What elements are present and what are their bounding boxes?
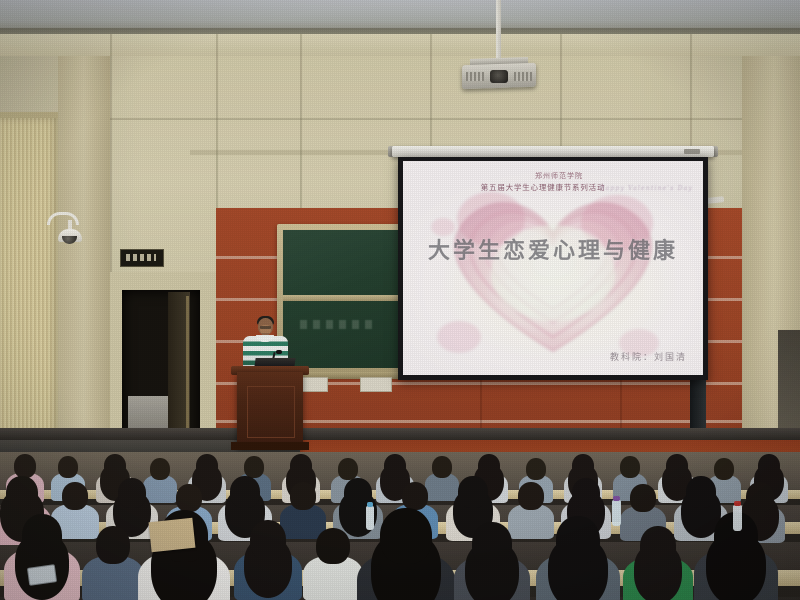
audience-member-head <box>58 456 78 478</box>
audience-member-head <box>620 456 640 478</box>
wall-sign <box>120 249 164 267</box>
projector-lens-icon <box>490 70 508 83</box>
audience <box>0 452 800 600</box>
audience-member-head <box>104 454 126 478</box>
audience-member-head <box>556 516 600 564</box>
slide-watermark: Happy Valentine's Day <box>599 185 693 192</box>
acoustic-slat-panel <box>0 118 58 468</box>
smartphone[interactable] <box>27 564 57 586</box>
audience-member-head <box>458 476 488 508</box>
audience-member-head <box>472 522 512 566</box>
audience-member-head <box>118 478 146 508</box>
chalk-writing <box>300 320 375 329</box>
podium-front-panel <box>247 386 295 438</box>
lecture-hall-photo: 郑州师范学院 第五届大学生心理健康节系列活动 Happy Valentine's… <box>0 0 800 600</box>
audience-member-head <box>338 458 358 480</box>
podium-base <box>231 442 309 450</box>
slide-org-line: 郑州师范学院 <box>459 171 659 181</box>
audience-member-head <box>62 482 88 510</box>
water-bottle <box>366 506 374 530</box>
audience-member-head <box>150 458 170 480</box>
projector-vent <box>466 72 484 81</box>
audience-member-head <box>526 458 546 480</box>
stage-front-edge <box>0 428 800 440</box>
audience-member-head <box>746 482 774 512</box>
wall-seam <box>110 118 800 120</box>
audience-member-head <box>478 454 500 478</box>
projected-slide: 郑州师范学院 第五届大学生心理健康节系列活动 Happy Valentine's… <box>403 161 703 375</box>
audience-member-head <box>22 514 62 558</box>
wall-notice-card <box>360 377 392 392</box>
chalkboard-divider <box>283 295 409 301</box>
audience-member-head <box>640 526 676 566</box>
wall-seam <box>430 34 432 149</box>
projector-mount-pole <box>496 0 501 62</box>
screen-housing-label <box>684 149 700 154</box>
slide-presenter: 教科院：刘国清 <box>610 350 687 363</box>
water-bottle <box>612 500 621 526</box>
door-handle-strip[interactable] <box>186 296 189 446</box>
audience-member-head <box>196 454 218 478</box>
audience-member-head <box>6 476 38 510</box>
heart-swirl-svg <box>403 161 703 375</box>
audience-member-head <box>230 476 260 508</box>
audience-member-head <box>518 482 544 510</box>
slide-main-title: 大学生恋爱心理与健康 <box>403 233 703 265</box>
audience-member-head <box>432 456 452 478</box>
wall-seam <box>560 34 562 149</box>
audience-member-head <box>290 482 316 510</box>
audience-member-head <box>244 456 264 478</box>
projector-vent <box>514 72 532 81</box>
wood-panel-trim <box>216 420 800 423</box>
audience-member-head <box>666 454 688 478</box>
wall-seam <box>300 34 302 209</box>
audience-member-head <box>758 454 780 478</box>
audience-member-head <box>572 454 594 478</box>
audience-member-head <box>402 482 428 510</box>
left-wall-pier <box>58 56 110 456</box>
audience-member-head <box>380 508 432 564</box>
audience-member-head <box>96 526 130 564</box>
heart-artwork <box>403 161 703 375</box>
audience-member-head <box>290 454 312 478</box>
notebook <box>149 518 196 552</box>
water-bottle <box>733 505 742 531</box>
audience-member-head <box>630 484 656 512</box>
audience-member-head <box>250 520 286 560</box>
bottle-cap <box>367 502 373 507</box>
bottle-cap <box>734 501 741 506</box>
audience-member-head <box>686 476 716 508</box>
screen-roller-housing <box>392 146 714 157</box>
wall-upper-band <box>0 34 800 56</box>
audience-member-head <box>384 454 406 478</box>
audience-member-head <box>176 484 202 512</box>
audience-member-head <box>316 528 350 564</box>
speaker-glasses-icon <box>260 326 271 329</box>
microphone-head-icon <box>276 350 282 354</box>
security-camera-bracket <box>47 212 79 225</box>
audience-member-head <box>14 454 36 478</box>
audience-member-head <box>572 478 600 508</box>
audience-member-head <box>714 458 734 480</box>
bottle-cap <box>613 496 620 501</box>
